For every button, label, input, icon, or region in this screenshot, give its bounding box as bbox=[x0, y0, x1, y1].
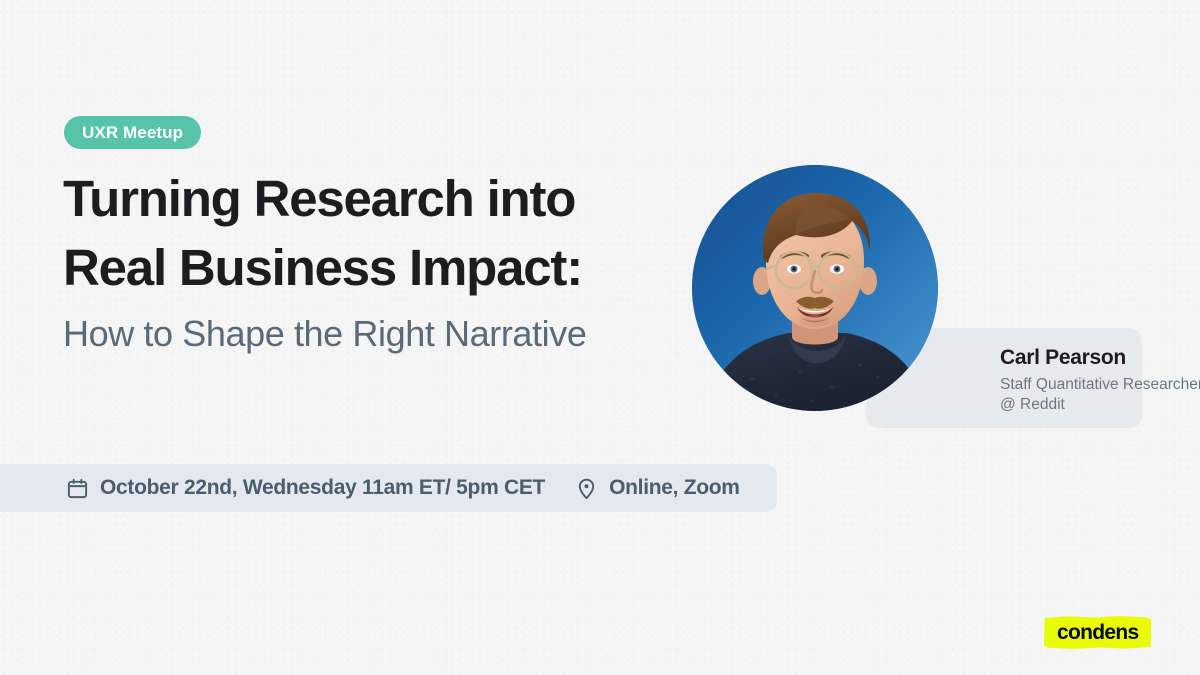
event-date-text: October 22nd, Wednesday 11am ET/ 5pm CET bbox=[100, 476, 545, 500]
condens-logo: condens bbox=[1044, 616, 1151, 649]
event-location-text: Online, Zoom bbox=[609, 476, 740, 500]
event-details-bar: October 22nd, Wednesday 11am ET/ 5pm CET… bbox=[0, 464, 777, 512]
speaker-details: Carl Pearson Staff Quantitative Research… bbox=[1000, 345, 1150, 415]
page-title: Turning Research into Real Business Impa… bbox=[63, 164, 703, 302]
event-category-badge: UXR Meetup bbox=[64, 116, 201, 149]
calendar-icon bbox=[66, 477, 89, 500]
speaker-avatar bbox=[692, 165, 938, 411]
page-subtitle: How to Shape the Right Narrative bbox=[63, 312, 586, 356]
speaker-role: Staff Quantitative Researcher bbox=[1000, 375, 1150, 395]
event-date-item: October 22nd, Wednesday 11am ET/ 5pm CET bbox=[66, 476, 545, 500]
event-announcement-poster: UXR Meetup Turning Research into Real Bu… bbox=[0, 0, 1200, 675]
map-pin-icon bbox=[575, 477, 598, 500]
event-location-item: Online, Zoom bbox=[575, 476, 740, 500]
headline-line-1: Turning Research into bbox=[63, 164, 703, 233]
speaker-company: @ Reddit bbox=[1000, 395, 1150, 415]
headline-line-2: Real Business Impact: bbox=[63, 233, 703, 302]
speaker-name: Carl Pearson bbox=[1000, 345, 1150, 371]
